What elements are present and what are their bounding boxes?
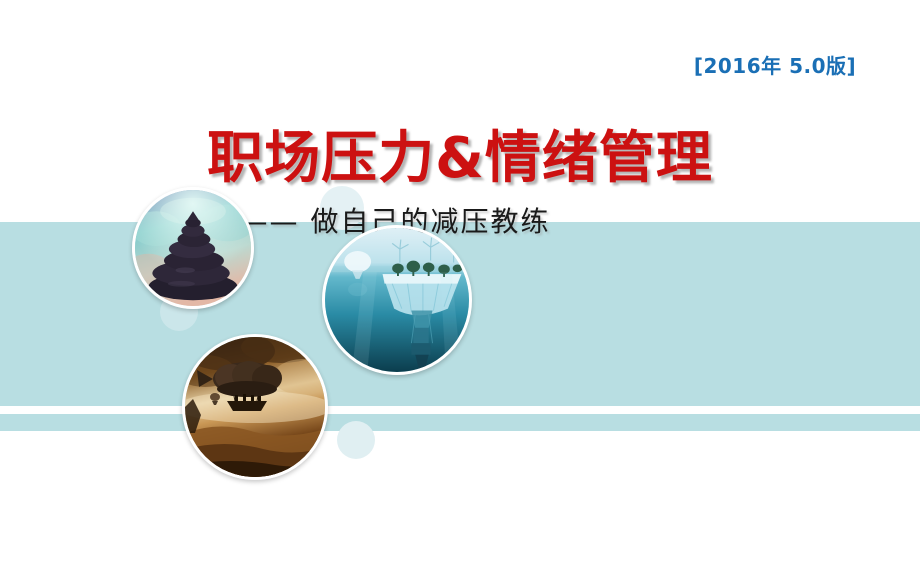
desert-airship-icon [185,337,325,477]
background-band-thin [0,414,920,431]
underwater-island-icon [325,228,469,372]
version-tag: [2016年 5.0版] [690,50,860,79]
decorative-circle-bottom [337,421,375,459]
title-slide: [2016年 5.0版] 职场压力&情绪管理 —— 做自己的减压教练 [0,0,920,575]
photo-zen-stones [132,187,254,309]
photo-underwater-island [322,225,472,375]
zen-stones-icon [135,190,251,306]
page-title: 职场压力&情绪管理 [0,113,920,194]
photo-desert-airship [182,334,328,480]
